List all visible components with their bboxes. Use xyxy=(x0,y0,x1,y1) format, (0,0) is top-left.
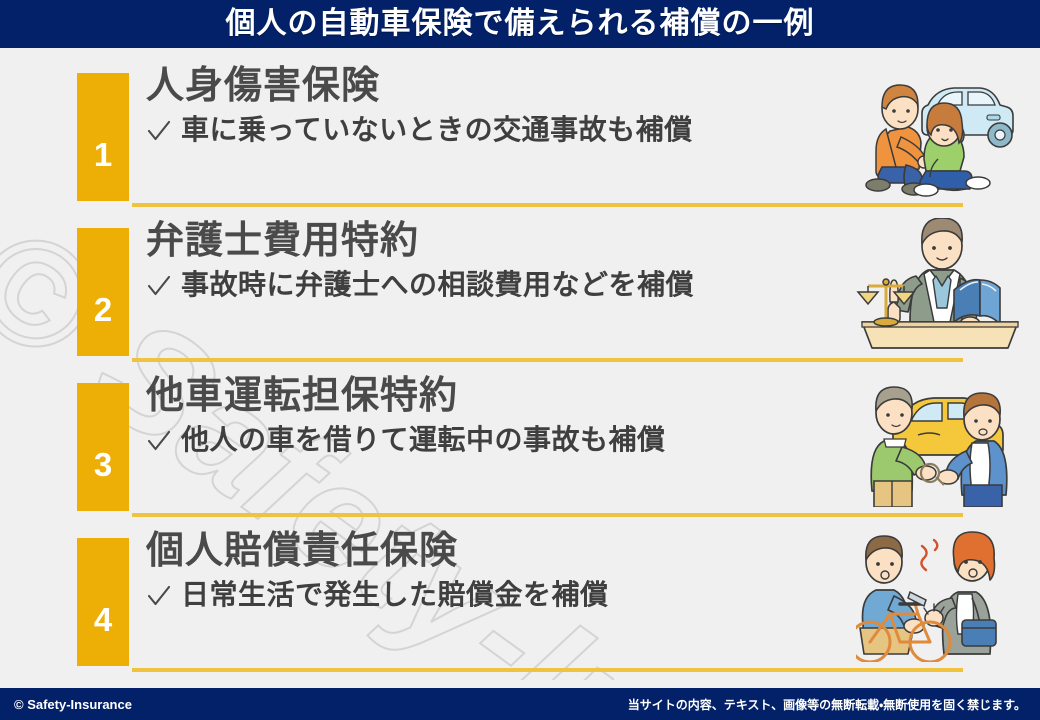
list-item[interactable]: 4 個人賠償責任保険 日常生活で発生した賠償金を補償 xyxy=(0,526,1040,668)
infographic-page: © Safety-Insurance 個人の自動車保険で備えられる補償の一例 1… xyxy=(0,0,1040,720)
row-divider xyxy=(132,668,963,672)
bicycle-collision-with-pedestrian-illustration xyxy=(856,528,1024,662)
item-title: 弁護士費用特約 xyxy=(146,222,846,262)
footer-copyright: © Safety-Insurance xyxy=(14,697,132,712)
item-number-badge: 3 xyxy=(77,383,129,511)
row-divider xyxy=(132,203,963,207)
man-helping-injured-woman-beside-car-illustration xyxy=(856,63,1024,197)
item-description: 事故時に弁護士への相談費用などを補償 xyxy=(181,270,694,301)
check-icon xyxy=(146,118,172,144)
two-men-exchanging-car-keys-illustration xyxy=(856,373,1024,507)
item-description-line: 車に乗っていないときの交通事故も補償 xyxy=(146,115,846,146)
item-description: 日常生活で発生した賠償金を補償 xyxy=(181,580,609,611)
item-description-line: 日常生活で発生した賠償金を補償 xyxy=(146,580,846,611)
item-description: 他人の車を借りて運転中の事故も補償 xyxy=(181,425,666,456)
item-body: 人身傷害保険 車に乗っていないときの交通事故も補償 xyxy=(146,67,846,197)
item-body: 弁護士費用特約 事故時に弁護士への相談費用などを補償 xyxy=(146,222,846,352)
item-title: 個人賠償責任保険 xyxy=(146,532,846,572)
row-divider xyxy=(132,513,963,517)
lawyer-with-book-and-scales-illustration xyxy=(856,218,1024,352)
item-number: 2 xyxy=(94,293,112,356)
item-number-badge: 1 xyxy=(77,73,129,201)
page-title: 個人の自動車保険で備えられる補償の一例 xyxy=(226,9,815,39)
footer-bar: © Safety-Insurance 当サイトの内容、テキスト、画像等の無断転載… xyxy=(0,688,1040,720)
item-number: 3 xyxy=(94,448,112,511)
row-divider xyxy=(132,358,963,362)
item-number-badge: 4 xyxy=(77,538,129,666)
item-number: 4 xyxy=(94,603,112,666)
check-icon xyxy=(146,583,172,609)
list-item[interactable]: 1 人身傷害保険 車に乗っていないときの交通事故も補償 xyxy=(0,61,1040,203)
item-title: 人身傷害保険 xyxy=(146,67,846,107)
footer-notice: 当サイトの内容、テキスト、画像等の無断転載・無断使用を固く禁じます。 xyxy=(628,696,1026,713)
check-icon xyxy=(146,273,172,299)
item-body: 他車運転担保特約 他人の車を借りて運転中の事故も補償 xyxy=(146,377,846,507)
list-item[interactable]: 2 弁護士費用特約 事故時に弁護士への相談費用などを補償 xyxy=(0,216,1040,358)
item-description: 車に乗っていないときの交通事故も補償 xyxy=(181,115,693,146)
item-title: 他車運転担保特約 xyxy=(146,377,846,417)
item-description-line: 他人の車を借りて運転中の事故も補償 xyxy=(146,425,846,456)
check-icon xyxy=(146,428,172,454)
item-description-line: 事故時に弁護士への相談費用などを補償 xyxy=(146,270,846,301)
item-body: 個人賠償責任保険 日常生活で発生した賠償金を補償 xyxy=(146,532,846,662)
item-number-badge: 2 xyxy=(77,228,129,356)
header-bar: 個人の自動車保険で備えられる補償の一例 xyxy=(0,0,1040,48)
item-number: 1 xyxy=(94,138,112,201)
coverage-list: 1 人身傷害保険 車に乗っていないときの交通事故も補償 xyxy=(0,48,1040,682)
list-item[interactable]: 3 他車運転担保特約 他人の車を借りて運転中の事故も補償 xyxy=(0,371,1040,513)
